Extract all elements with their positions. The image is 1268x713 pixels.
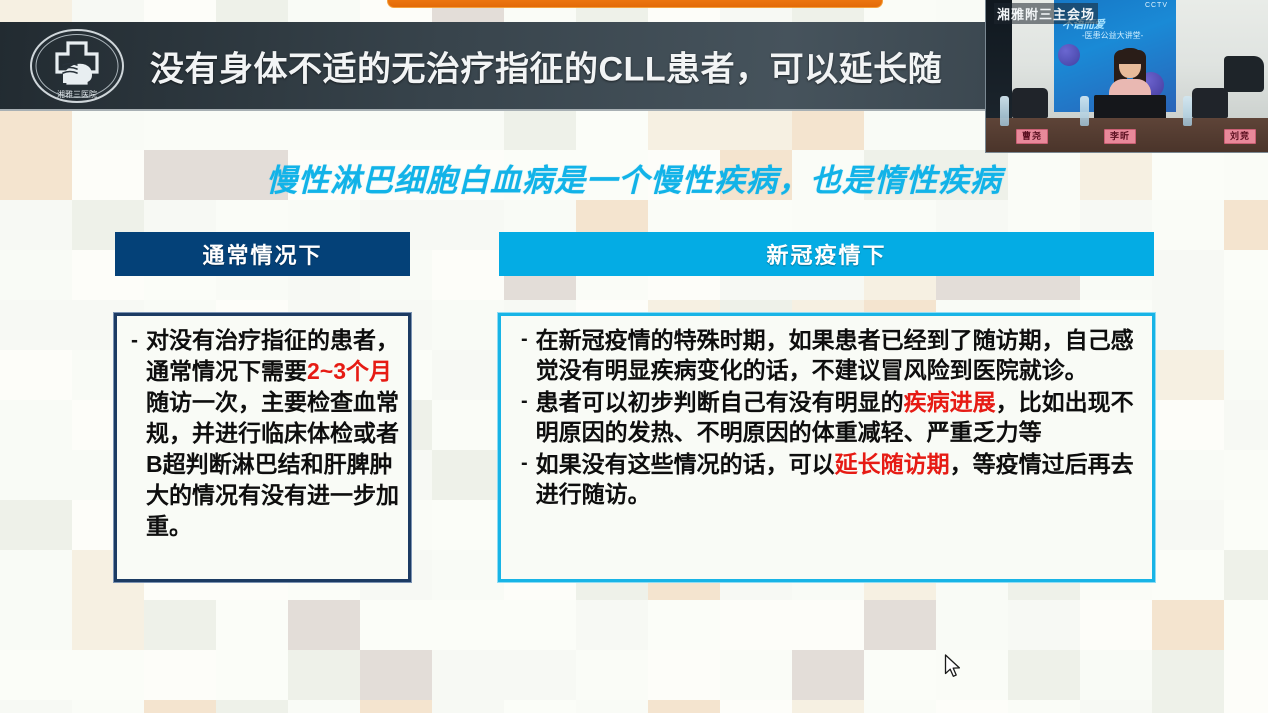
background-tile [0,300,72,350]
banner-title-line2: -医患公益大讲堂- [1082,30,1143,41]
slide-title: 没有身体不适的无治疗指征的CLL患者，可以延长随 [150,41,942,90]
video-conference-overlay[interactable]: CCTV 不语而爱 -医患公益大讲堂- 曹尧 李昕 刘竞 湘雅附三主会场 [985,0,1268,153]
background-tile [0,700,72,713]
background-tile [288,700,360,713]
bullet-item: -在新冠疫情的特殊时期，如果患者已经到了随访期，自己感觉没有明显疾病变化的话，不… [511,325,1144,385]
background-tile [1224,650,1268,700]
background-tile [1080,650,1152,700]
bullet-text: 对没有治疗指征的患者，通常情况下需要2~3个月随访一次，主要检查血常规，并进行临… [146,325,400,542]
background-tile [720,600,792,650]
background-tile [72,600,144,650]
bullet-list-usual: -对没有治疗指征的患者，通常情况下需要2~3个月随访一次，主要检查血常规，并进行… [117,316,408,542]
nameplate-1: 曹尧 [1016,129,1048,144]
background-tile [432,650,504,700]
background-tile [432,550,504,600]
background-tile [1152,500,1224,550]
background-tile [576,600,648,650]
background-tile [792,700,864,713]
bullet-item: -如果没有这些情况的话，可以延长随访期，等疫情过后再去进行随访。 [511,449,1144,509]
background-tile [1224,200,1268,250]
bullet-marker: - [521,325,528,349]
broadcaster-logo: CCTV [1145,2,1168,9]
background-tile [1224,300,1268,350]
background-tile [432,400,504,450]
column-header-usual: 通常情况下 [115,232,410,276]
background-tile [1152,650,1224,700]
background-tile [1152,400,1224,450]
background-tile [432,600,504,650]
background-tile [288,600,360,650]
background-tile [576,700,648,713]
background-tile [792,650,864,700]
venue-label: 湘雅附三主会场 [994,3,1098,24]
background-tile [0,250,72,300]
bullet-item: -对没有治疗指征的患者，通常情况下需要2~3个月随访一次，主要检查血常规，并进行… [127,325,400,542]
background-tile [1152,600,1224,650]
background-tile [792,600,864,650]
background-tile [504,650,576,700]
background-tile [864,700,936,713]
hospital-logo-icon: 湘雅三医院 [18,27,136,105]
background-tile [648,600,720,650]
background-tile [864,650,936,700]
background-tile [288,650,360,700]
background-tile [432,300,504,350]
chair-right [1192,88,1228,118]
background-tile [1224,700,1268,713]
background-tile [1152,250,1224,300]
background-tile [1152,350,1224,400]
water-bottle-1 [1000,96,1009,126]
nameplate-3: 刘竞 [1224,129,1256,144]
background-tile [1224,600,1268,650]
bullet-item: -患者可以初步判断自己有没有明显的疾病进展，比如出现不明原因的发热、不明原因的体… [511,387,1144,447]
background-tile [360,600,432,650]
background-tile [0,350,72,400]
bullet-list-covid: -在新冠疫情的特殊时期，如果患者已经到了随访期，自己感觉没有明显疾病变化的话，不… [501,316,1152,509]
slide-subtitle: 慢性淋巴细胞白血病是一个慢性疾病，也是惰性疾病 [0,155,1268,200]
background-tile [432,250,504,300]
background-tile [1224,550,1268,600]
background-tile [576,650,648,700]
bullet-marker: - [521,449,528,473]
water-bottle-3 [1183,96,1192,126]
background-tile [216,600,288,650]
bullet-text: 在新冠疫情的特殊时期，如果患者已经到了随访期，自己感觉没有明显疾病变化的话，不建… [536,325,1144,385]
background-tile [144,650,216,700]
background-tile [1080,700,1152,713]
background-tile [432,350,504,400]
background-tile [432,500,504,550]
background-tile [504,700,576,713]
background-tile [1152,700,1224,713]
background-tile [0,200,72,250]
background-tile [864,600,936,650]
background-tile [360,700,432,713]
screen-capture-root: 湘雅三医院 没有身体不适的无治疗指征的CLL患者，可以延长随 慢性淋巴细胞白血病… [0,0,1268,713]
background-tile [1152,200,1224,250]
column-header-covid: 新冠疫情下 [499,232,1154,276]
background-tile [144,600,216,650]
background-tile [1224,500,1268,550]
content-box-covid: -在新冠疫情的特殊时期，如果患者已经到了随访期，自己感觉没有明显疾病变化的话，不… [498,313,1155,582]
top-orange-bar [387,0,883,8]
background-tile [1008,650,1080,700]
background-tile [720,700,792,713]
background-tile [144,700,216,713]
background-tile [0,400,72,450]
background-tile [216,650,288,700]
chair-left [1012,88,1048,118]
wall-mounted-screen [1224,56,1264,92]
svg-text:湘雅三医院: 湘雅三医院 [57,89,97,99]
bullet-marker: - [131,325,138,351]
background-tile [936,700,1008,713]
background-tile [72,650,144,700]
background-tile [648,700,720,713]
nameplate-2: 李昕 [1104,129,1136,144]
content-box-usual: -对没有治疗指征的患者，通常情况下需要2~3个月随访一次，主要检查血常规，并进行… [114,313,411,582]
background-tile [1152,450,1224,500]
background-tile [720,650,792,700]
background-tile [504,600,576,650]
background-tile [0,550,72,600]
water-bottle-2 [1080,96,1089,126]
background-tile [1224,400,1268,450]
background-tile [0,450,72,500]
background-tile [216,700,288,713]
banner-orb-1 [1058,44,1080,66]
background-tile [432,200,504,250]
background-tile [1080,600,1152,650]
bullet-marker: - [521,387,528,411]
background-tile [1224,350,1268,400]
background-tile [1152,300,1224,350]
background-tile [1224,250,1268,300]
background-tile [0,600,72,650]
background-tile [1152,550,1224,600]
background-tile [1224,450,1268,500]
background-tile [360,650,432,700]
background-tile [432,700,504,713]
background-tile [936,600,1008,650]
background-tile [1008,600,1080,650]
mouse-cursor [944,654,962,680]
background-tile [1008,700,1080,713]
background-tile [0,650,72,700]
background-tile [648,650,720,700]
background-tile [432,450,504,500]
background-tile [0,500,72,550]
bullet-text: 患者可以初步判断自己有没有明显的疾病进展，比如出现不明原因的发热、不明原因的体重… [536,387,1144,447]
background-tile [72,700,144,713]
bullet-text: 如果没有这些情况的话，可以延长随访期，等疫情过后再去进行随访。 [536,449,1144,509]
